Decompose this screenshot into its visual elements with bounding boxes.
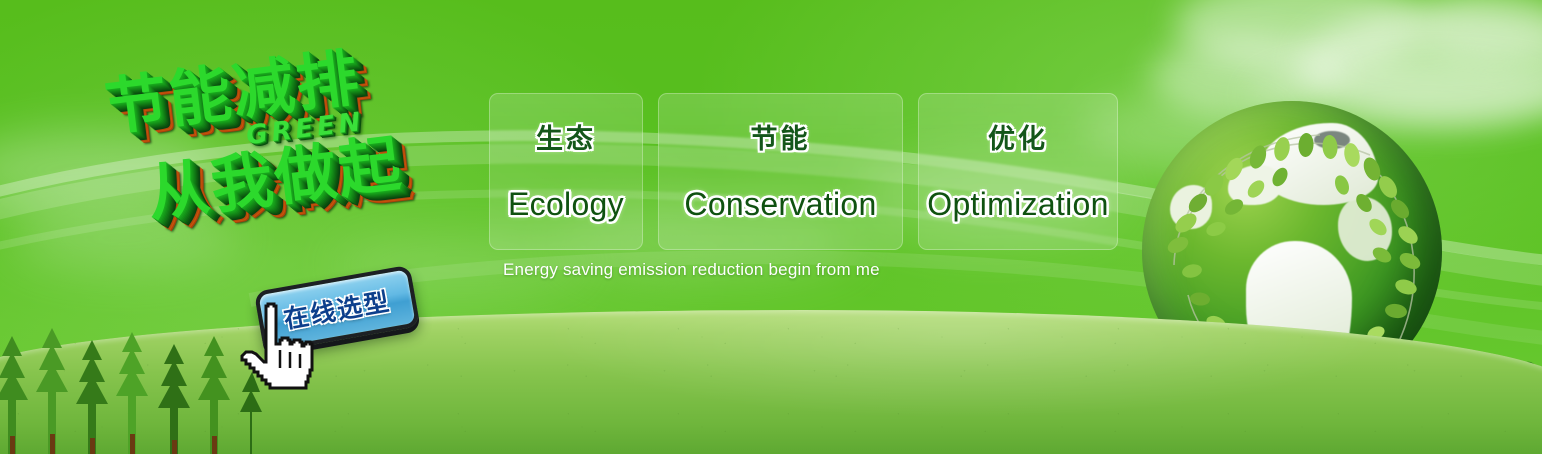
feature-card-optimization-en: Optimization [927, 186, 1108, 223]
banner-tagline: Energy saving emission reduction begin f… [503, 260, 880, 280]
feature-card-conservation[interactable]: 节能 Conservation [658, 93, 903, 250]
feature-card-ecology-en: Ecology [508, 186, 624, 223]
feature-card-optimization-cn: 优化 [988, 117, 1048, 156]
feature-card-optimization[interactable]: 优化 Optimization [918, 93, 1118, 250]
pointing-hand-cursor-icon [236, 300, 314, 392]
headline-line-2-text: 从我做起 [143, 127, 406, 231]
feature-card-conservation-cn: 节能 [751, 117, 811, 156]
feature-card-ecology-cn: 生态 [536, 117, 596, 156]
feature-card-conservation-en: Conservation [684, 186, 876, 223]
feature-card-ecology[interactable]: 生态 Ecology [489, 93, 643, 250]
eco-hero-banner: 节能减排 GREEN 从我做起 生态 Ecology 节能 Conservati… [0, 0, 1542, 454]
headline-3d-artwork: 节能减排 GREEN 从我做起 [96, 36, 496, 266]
feature-card-group: 生态 Ecology 节能 Conservation 优化 Optimizati… [489, 93, 1118, 250]
